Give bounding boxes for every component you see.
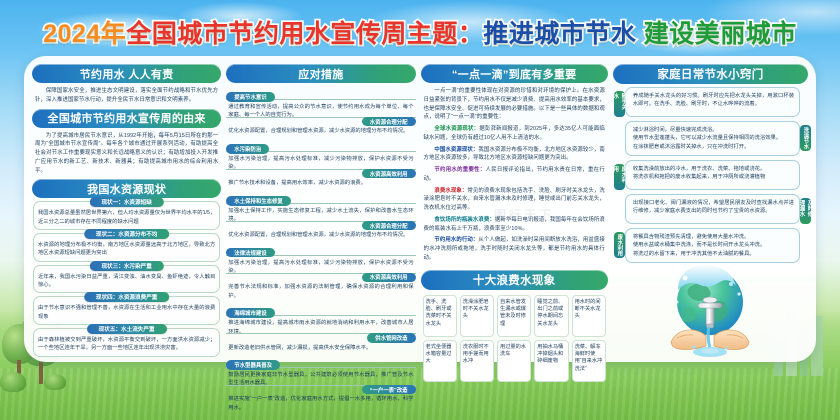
column-importance: “一点一滴”到底有多重要 一点一滴”的重要性体现在对资源的珍惜和对环境的保护上。… <box>421 62 608 358</box>
measure-row: “一户一表”改造 推进实施“一户一表”改造，优化家庭用水方式，提倡一水多用，循环… <box>226 385 415 412</box>
tip-body: 收集洗澡前放出的冷水，用于洗衣、洗菜、拖地或浇花。将洗衣机和拖把的废水收集起来，… <box>633 165 794 182</box>
tip-tab: 随手关水 <box>614 91 625 117</box>
section-header-measures: 应对措施 <box>226 64 415 83</box>
tip-card: 废水利用 收集洗澡前放出的冷水，用于洗衣、洗菜、拖地或浇花。将洗衣机和拖把的废水… <box>625 160 800 190</box>
waste-cell: 老式坐便器水箱容量过大 <box>423 340 457 382</box>
status-body: 近年来，我国水污染日益严重，清江变浊、油水变臭、鱼虾绝迹，令人触目惊心。 <box>38 273 215 290</box>
fact-item: 浪费水现象：常见的浪费水现象包括洗手、洗脸、刷牙时关水龙头，洗澡涂肥皂时不关水，… <box>421 186 608 215</box>
title-year: 2024年 <box>43 20 126 48</box>
section-header-origin: 全国城市节约用水宣传周的由来 <box>32 109 221 128</box>
measure-pill: 法律法规建设 <box>226 248 274 258</box>
fact-label: 节约用水的重要性： <box>434 167 485 173</box>
status-card: 现状五：水土流失严重 由于森林植被交到严重破坏，水资源平衡交到破坏，一方面洪水资… <box>33 328 220 357</box>
measure-pill: 水资源高效利用 <box>362 273 416 283</box>
tip-body: 养成随手关水龙头的好习惯。刷牙时应先把水龙头关掉，用漱口杯装水即可。在洗手、洗脸… <box>633 92 794 109</box>
measure-pill: 海绵城市建设 <box>226 308 274 318</box>
paragraph-origin: 为了提高城市居民节水意识，从1992年开始，每年5月15日所在的那一周为“全国城… <box>32 131 221 178</box>
fact-item: 节约用水的重要性：人民日报评论指出，节约用水贵在日常，重在行动。 <box>421 165 608 186</box>
status-tag: 现状一：水资源短缺 <box>89 197 163 207</box>
measure-pill: 供水管网改造 <box>367 333 415 343</box>
measure-row: 供水管网改造 更新改造老旧供水管网，减少漏损，提高供水安全保障水平。 <box>226 333 415 352</box>
measure-pill: “一户一表”改造 <box>362 385 416 395</box>
status-body: 水资源的地理分布极不均衡，南方地区水资源量远高于北方地区，导致北方地区水资源短缺… <box>38 241 215 258</box>
measure-row: 海绵城市建设 推进海绵城市建设，提高城市雨水资源的就地消纳和利用水平，改善城市人… <box>226 302 415 336</box>
measure-text: 优化水资源配置，合理规划和管理水资源，减少水资源的地理分布不均情况。 <box>226 230 415 239</box>
status-tag: 现状五：水土流失严重 <box>87 324 167 334</box>
waste-cell: 用过量的水洗车 <box>497 340 531 382</box>
fact-item: 节约用水的行动：从个人做起，如洗澡时采用间断放水洗浴，用盆盛接的水冲洗厕所或拖地… <box>421 235 608 264</box>
measure-pill: 水资源合理分配 <box>362 221 416 231</box>
fact-label: 全球水资源现状： <box>434 126 479 132</box>
measure-row: 水污染防治 加强水污染治理，提高污水处理标准，减少污染物排放，保护水资源不受污染… <box>226 138 415 172</box>
section-header-household-tips: 家庭日常节水小窍门 <box>613 64 808 84</box>
measure-text: 推广节水技术和设备，提高用水效率，减少水资源的浪费。 <box>226 178 415 187</box>
measure-pill: 节水型器具普及 <box>226 360 280 370</box>
status-card: 现状二：水资源分布不均 水资源的地理分布极不均衡，南方地区水资源量远高于北方地区… <box>33 233 220 262</box>
fact-label: 中国水资源现状： <box>434 147 478 153</box>
measure-row: 水土保持和生态修复 加强水土保持工作，实施生态修复工程，减少水土流失，保护和改善… <box>226 190 415 224</box>
poster-title: 2024年全国城市节约用水宣传周主题：推进城市节水 建设美丽城市 <box>0 12 840 52</box>
waste-cell: 自来水管发生漏水或爆管未及时修理 <box>497 295 531 337</box>
paragraph-saving-water: 保障国家水安全，推进生态文明建设，落实全面节约战略和节水优先方针，深入推进国家节… <box>32 86 221 107</box>
measure-row: 节水型器具普及 鼓励居民更换家庭非节水型器具，公共建筑必须使用节水器具，推广普及… <box>226 354 415 388</box>
measure-row: 水资源高效利用 完善节水法规和标准，加强水资源的法制管理，确保水资源的合理利用和… <box>226 273 415 300</box>
measure-pill: 提高节水意识 <box>226 92 274 102</box>
fact-item: 全球水资源现状：据彭湃新闻报道，到2025年，多达35亿人可能面临缺水问题，全球… <box>421 124 608 145</box>
paragraph-intro: 一点一滴”的重要性体现在对资源的珍惜和对环境的保护上。在水资源日益紧张的背景下，… <box>421 86 608 124</box>
title-theme-b: 建设美丽城市 <box>644 20 797 48</box>
tip-card: 随手关水 养成随手关水龙头的好习惯。刷牙时应先把水龙头关掉，用漱口杯装水即可。在… <box>625 87 800 117</box>
measure-row: 法律法规建设 加强水污染治理，提高污水处理标准，减少污染物排放，保护水资源不受污… <box>226 242 415 276</box>
status-card: 现状四：水资源浪费严重 由于节水意识不强和管理不善，水资源在生活和工业用水中存在… <box>33 296 220 325</box>
waste-cell: 用水时的间断不关水龙头 <box>572 295 606 337</box>
tip-card: 及时修理漏水 出现接口老化、阀门漏液的情况，希望居民朋友及时查找漏水点并进行维修… <box>625 194 800 224</box>
measure-text: 推进实施“一户一表”改造，优化家庭用水方式，提倡一水多用，循环用水，科学用水。 <box>226 394 415 412</box>
fact-label: 节约用水的行动： <box>434 237 478 243</box>
waste-cell: 用抽水马桶冲掉烟头和碎细废物 <box>534 340 568 382</box>
section-header-saving-water: 节约用水 人人有责 <box>32 64 221 83</box>
status-tag: 现状二：水资源分布不均 <box>84 229 170 239</box>
status-card: 现状三：水污染严重 近年来，我国水污染日益严重，清江变浊、油水变臭、鱼虾绝迹，令… <box>33 265 220 294</box>
title-theme-a: 推进城市节水 <box>483 20 636 48</box>
waste-cell: 洗手、洗脸、刷牙或洗菜时不关水龙头 <box>423 295 457 337</box>
status-body: 由于森林植被交到严重破坏，水资源平衡交到破坏，一方面洪水资源减少；一个些地区连年… <box>38 336 215 353</box>
column-water-basics: 节约用水 人人有责 保障国家水安全，推进生态文明建设，落实全面节约战略和节水优先… <box>32 62 221 358</box>
measure-pill: 水污染防治 <box>226 144 269 154</box>
tip-tab: 废水利用 <box>614 232 625 258</box>
waste-phenomena-grid: 洗手、洗脸、刷牙或洗菜时不关水龙头 洗澡涂肥皂时不关水龙头 自来水管发生漏水或爆… <box>421 293 608 382</box>
waste-cell: 睡觉之前、出门之前或停水期间忘关水龙头 <box>534 295 568 337</box>
section-header-ten-waste: 十大浪费水现象 <box>421 270 608 290</box>
section-header-drop-importance: “一点一滴”到底有多重要 <box>421 64 608 83</box>
tip-tab: 废水利用 <box>614 164 625 190</box>
measure-pill: 水资源高效利用 <box>362 169 416 179</box>
tip-tab: 洗澡节水 <box>800 125 811 151</box>
tip-tab: 及时修理漏水 <box>800 198 811 224</box>
column-measures: 应对措施 提高节水意识 通过教育和宣传活动，提高公众的节水意识，使节约用水成为每… <box>226 62 415 358</box>
measure-row: 水资源高效利用 推广节水技术和设备，提高用水效率，减少水资源的浪费。 <box>226 169 415 188</box>
fact-label: 浪费水现象： <box>434 188 467 194</box>
status-tag: 现状三：水污染严重 <box>89 261 163 271</box>
shrub-decoration-1 <box>0 372 26 392</box>
tip-card: 洗澡节水 减少淋浴时间，尽量快速完成洗浴。使用节水型莲蓬头，它可以减少水流量且保… <box>625 121 800 156</box>
fact-label: 食饮场所的瓶装水浪费： <box>434 217 495 223</box>
measure-pill: 水土保持和生态修复 <box>226 196 291 206</box>
fact-item: 中国水资源现状：我国水资源分布极不均衡，北方地区水资源较少，南方地区水资源较多，… <box>421 145 608 166</box>
status-body: 由于节水意识不强和管理不善，水资源在生活和工业用水中存在大量的浪费现象 <box>38 304 215 321</box>
title-main: 全国城市节约用水宣传周主题： <box>126 20 483 48</box>
waste-cell: 洗衣服时不用手搓而用水冲 <box>460 340 494 382</box>
section-header-current-status: 我国水资源现状 <box>32 179 221 198</box>
column-household-tips: 家庭日常节水小窍门 随手关水 养成随手关水龙头的好习惯。刷牙时应先把水龙头关掉，… <box>613 62 808 358</box>
earth-faucet-illustration <box>613 258 808 364</box>
waste-cell: 洗澡涂肥皂时不关水龙头 <box>460 295 494 337</box>
status-tag: 现状四：水资源浪费严重 <box>84 292 170 302</box>
tip-body: 出现接口老化、阀门漏液的情况，希望居民朋友及时查找漏水点并进行维修，减少家庭水费… <box>633 199 794 216</box>
waste-cell: 洗菜、解冻海鲜时使用“自来水冲洗法” <box>572 340 606 382</box>
tip-body: 减少淋浴时间，尽量快速完成洗浴。使用节水型莲蓬头，它可以减少水流量且保持相同的洗… <box>633 126 794 151</box>
measure-pill: 水资源合理分配 <box>362 117 416 127</box>
status-body: 我国水资源总量虽然居世界第六，但人均水资源量仅为世界平均水平的1/5，近三分之二… <box>38 209 215 226</box>
status-card: 现状一：水资源短缺 我国水资源总量虽然居世界第六，但人均水资源量仅为世界平均水平… <box>33 201 220 230</box>
measure-row: 提高节水意识 通过教育和宣传活动，提高公众的节水意识，使节约用水成为每个单位、每… <box>226 86 415 120</box>
content-board: 图行天下 图行天下 节约用水 人人有责 保障国家水安全，推进生态文明建设，落实全… <box>24 56 816 362</box>
measure-row: 水资源合理分配 优化水资源配置，合理规划和管理水资源，减少水资源的地理分布不均情… <box>226 221 415 240</box>
tip-body: 将餐具含物残渣预先清理，避免使用大量水冲洗。使用水盆或水桶集中洗涤，而不是长时间… <box>633 233 794 258</box>
measure-text: 完善节水法规和标准，加强水资源的法制管理，确保水资源的合理利用和保护。 <box>226 282 415 300</box>
fact-item: 食饮场所的瓶装水浪费：据新华每日电讯报道，我国每年在会饮场所浪费的瓶装水有上千万… <box>421 215 608 236</box>
measure-text: 更新改造老旧供水管网，减少漏损，提高供水安全保障水平。 <box>226 343 415 352</box>
shrub-decoration-2 <box>44 374 66 390</box>
measure-row: 水资源合理分配 优化水资源配置，合理规划和管理水资源，减少水资源的地理分布不均情… <box>226 117 415 136</box>
measure-text: 优化水资源配置，合理规划和管理水资源，减少水资源的地理分布不均情况。 <box>226 126 415 135</box>
